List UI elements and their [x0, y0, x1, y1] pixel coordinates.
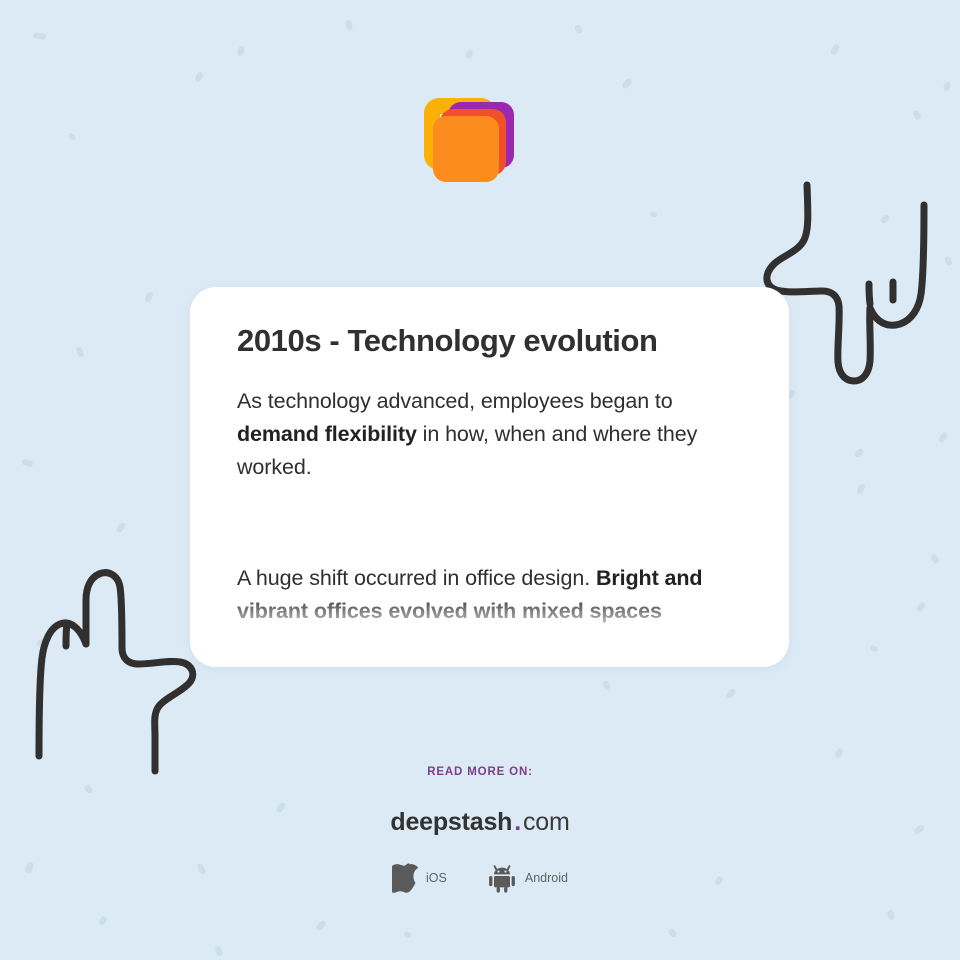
confetti-speck — [937, 431, 948, 443]
brand-name: deepstash — [390, 808, 512, 836]
deepstash-logo — [424, 98, 524, 198]
confetti-speck — [115, 521, 126, 533]
confetti-speck — [194, 71, 204, 83]
confetti-speck — [930, 553, 940, 565]
confetti-speck — [887, 909, 896, 920]
store-badges: iOS — [0, 863, 960, 893]
confetti-speck — [464, 49, 474, 60]
confetti-speck — [667, 928, 677, 939]
confetti-speck — [602, 680, 611, 691]
store-badge-android[interactable]: Android — [487, 863, 568, 893]
android-icon — [487, 863, 517, 893]
confetti-speck — [214, 945, 223, 957]
apple-icon — [392, 863, 418, 893]
card-paragraph-2: A huge shift occurred in office design. … — [237, 562, 741, 628]
confetti-speck — [21, 459, 33, 468]
confetti-speck — [403, 931, 411, 938]
confetti-speck — [237, 45, 246, 56]
paragraph-1-segment-2-bold: demand flexibility — [237, 422, 417, 446]
confetti-speck — [912, 109, 922, 121]
confetti-speck — [315, 919, 327, 931]
confetti-speck — [33, 32, 47, 40]
confetti-speck — [853, 448, 865, 459]
confetti-speck — [942, 81, 951, 92]
brand-dot-separator: . — [514, 808, 521, 837]
confetti-speck — [830, 43, 841, 56]
poster-canvas: 2010s - Technology evolution As technolo… — [0, 0, 960, 960]
confetti-speck — [345, 19, 353, 30]
paragraph-2-segment-1: A huge shift occurred in office design. — [237, 566, 596, 590]
confetti-speck — [856, 483, 866, 495]
confetti-speck — [650, 211, 658, 217]
confetti-speck — [574, 24, 584, 35]
confetti-speck — [36, 637, 47, 647]
confetti-speck — [67, 132, 76, 141]
read-more-label: READ MORE ON: — [0, 766, 960, 778]
brand-url[interactable]: deepstash.com — [0, 808, 960, 837]
logo-orange-square — [433, 116, 499, 182]
confetti-speck — [869, 645, 878, 652]
paragraph-spacer — [237, 484, 741, 562]
confetti-speck — [98, 915, 107, 926]
confetti-speck — [834, 747, 844, 759]
confetti-speck — [75, 346, 84, 357]
store-label-android: Android — [525, 871, 568, 885]
store-label-ios: iOS — [426, 871, 447, 885]
pointing-hand-up-icon — [22, 556, 207, 781]
confetti-speck — [879, 213, 890, 224]
confetti-speck — [621, 77, 633, 89]
paragraph-1-segment-1: As technology advanced, employees began … — [237, 389, 673, 413]
confetti-speck — [916, 601, 927, 613]
footer: READ MORE ON: deepstash.com iOS — [0, 766, 960, 893]
brand-tld: com — [523, 808, 570, 836]
confetti-speck — [725, 687, 737, 699]
card-title: 2010s - Technology evolution — [237, 323, 741, 359]
idea-card[interactable]: 2010s - Technology evolution As technolo… — [190, 287, 789, 667]
confetti-speck — [944, 256, 953, 267]
card-content: 2010s - Technology evolution As technolo… — [190, 287, 789, 628]
card-paragraph-1: As technology advanced, employees began … — [237, 385, 741, 484]
store-badge-ios[interactable]: iOS — [392, 863, 447, 893]
confetti-speck — [144, 291, 154, 303]
